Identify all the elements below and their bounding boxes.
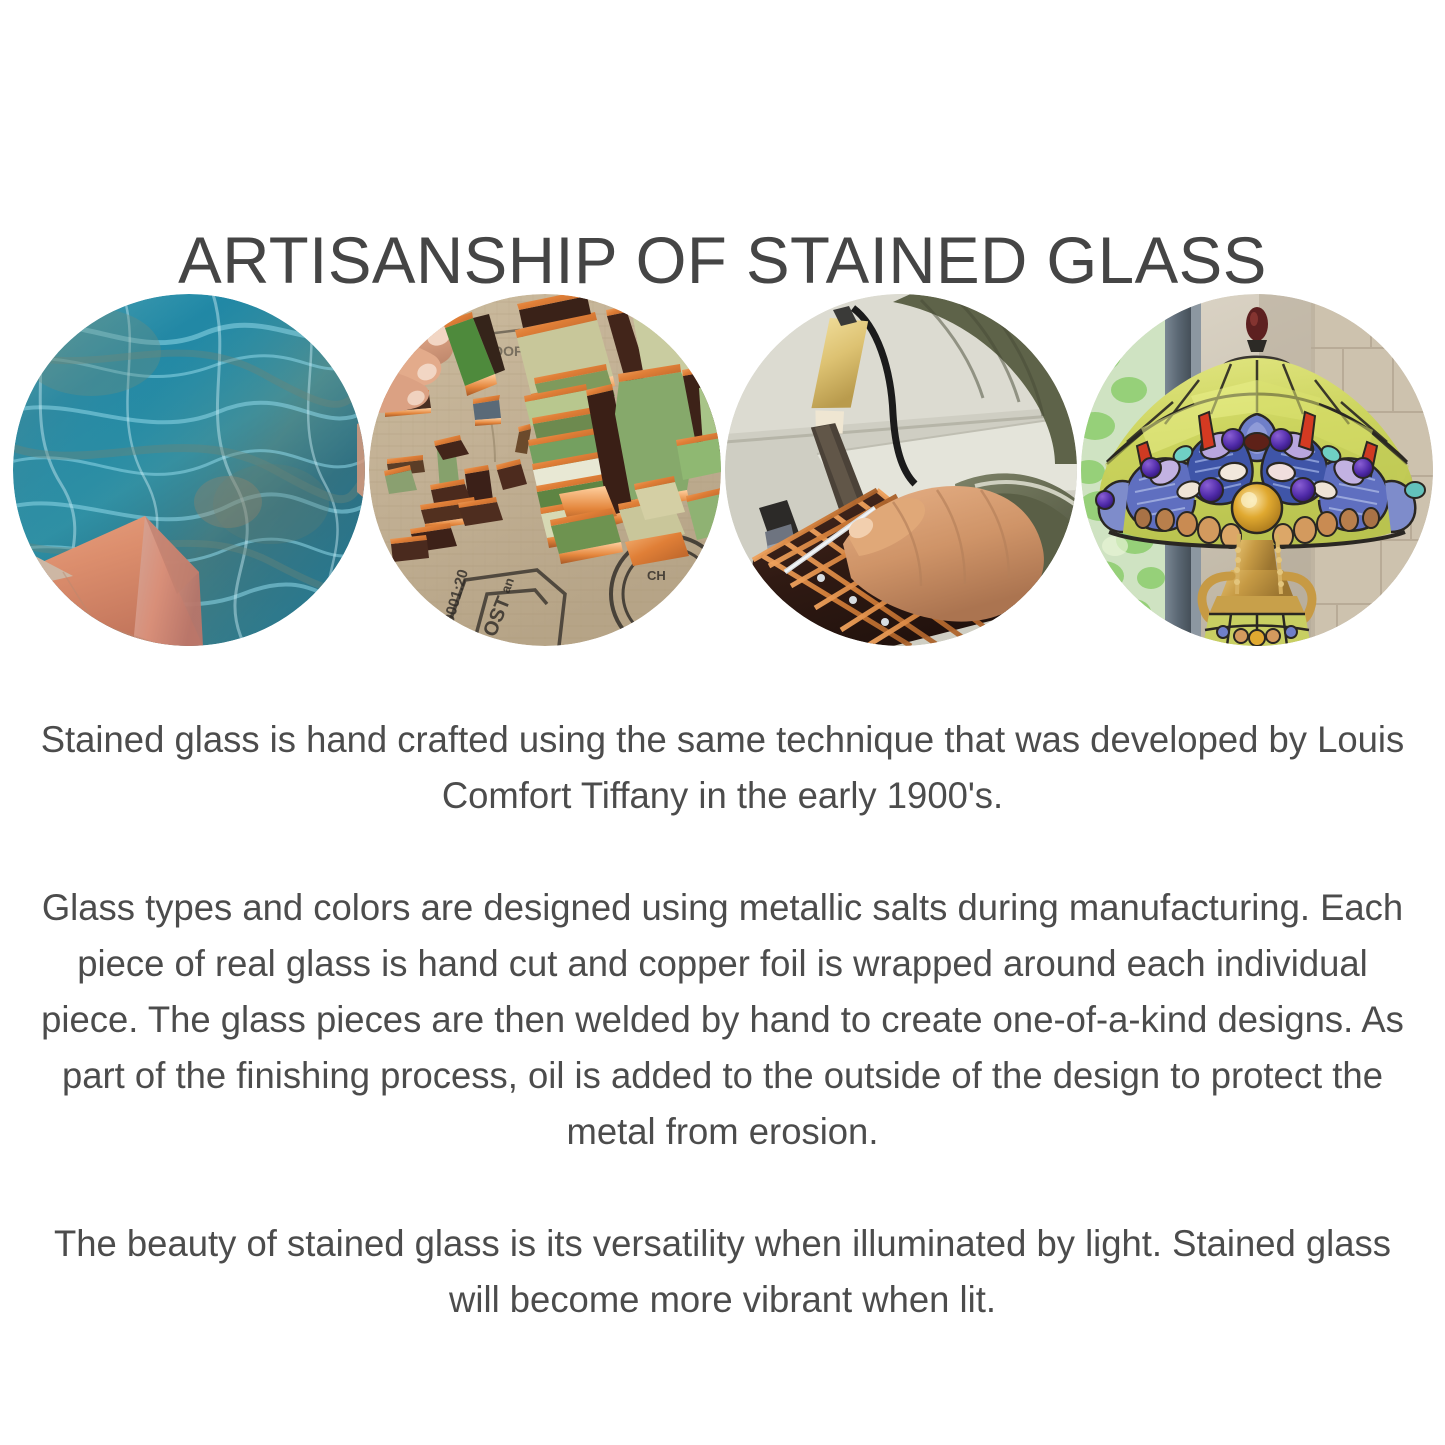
jewel bbox=[1353, 458, 1373, 478]
image-gallery: SUPER QUALITY CH 9001:20 OST an C bbox=[13, 294, 1433, 650]
pull-chain bbox=[1237, 534, 1239, 594]
paragraph-2: Glass types and colors are designed usin… bbox=[33, 880, 1413, 1160]
paragraph-3: The beauty of stained glass is its versa… bbox=[33, 1216, 1413, 1328]
lamp-finial bbox=[1246, 307, 1268, 352]
jewel bbox=[1291, 478, 1315, 502]
jewel bbox=[1270, 429, 1292, 451]
center-jewel bbox=[1232, 483, 1282, 533]
jewel bbox=[1096, 491, 1114, 509]
jewel bbox=[1244, 433, 1270, 451]
jewel bbox=[1222, 429, 1244, 451]
gallery-image-soldering bbox=[725, 294, 1077, 646]
jewel bbox=[1199, 478, 1223, 502]
infographic-page: ARTISANSHIP OF STAINED GLASS bbox=[0, 0, 1445, 1445]
paragraph-1: Stained glass is hand crafted using the … bbox=[33, 712, 1413, 824]
gallery-image-copper-foiled-pieces: SUPER QUALITY CH 9001:20 OST an C bbox=[369, 294, 721, 646]
tiffany-lamp-illustration bbox=[1081, 294, 1433, 646]
jewel bbox=[1141, 458, 1161, 478]
glass-sheet-illustration bbox=[13, 294, 365, 646]
svg-text:C E R: C E R bbox=[420, 608, 440, 640]
gallery-image-finished-lamp bbox=[1081, 294, 1433, 646]
svg-text:SUPER QUALITY: SUPER QUALITY bbox=[369, 294, 374, 297]
gallery-image-glass-sheet bbox=[13, 294, 365, 646]
copper-foiling-illustration: SUPER QUALITY CH 9001:20 OST an C bbox=[369, 294, 721, 646]
svg-text:CH: CH bbox=[647, 568, 666, 583]
description-text: Stained glass is hand crafted using the … bbox=[33, 712, 1413, 1328]
soldering-illustration bbox=[725, 294, 1077, 646]
page-title: ARTISANSHIP OF STAINED GLASS bbox=[7, 222, 1438, 298]
